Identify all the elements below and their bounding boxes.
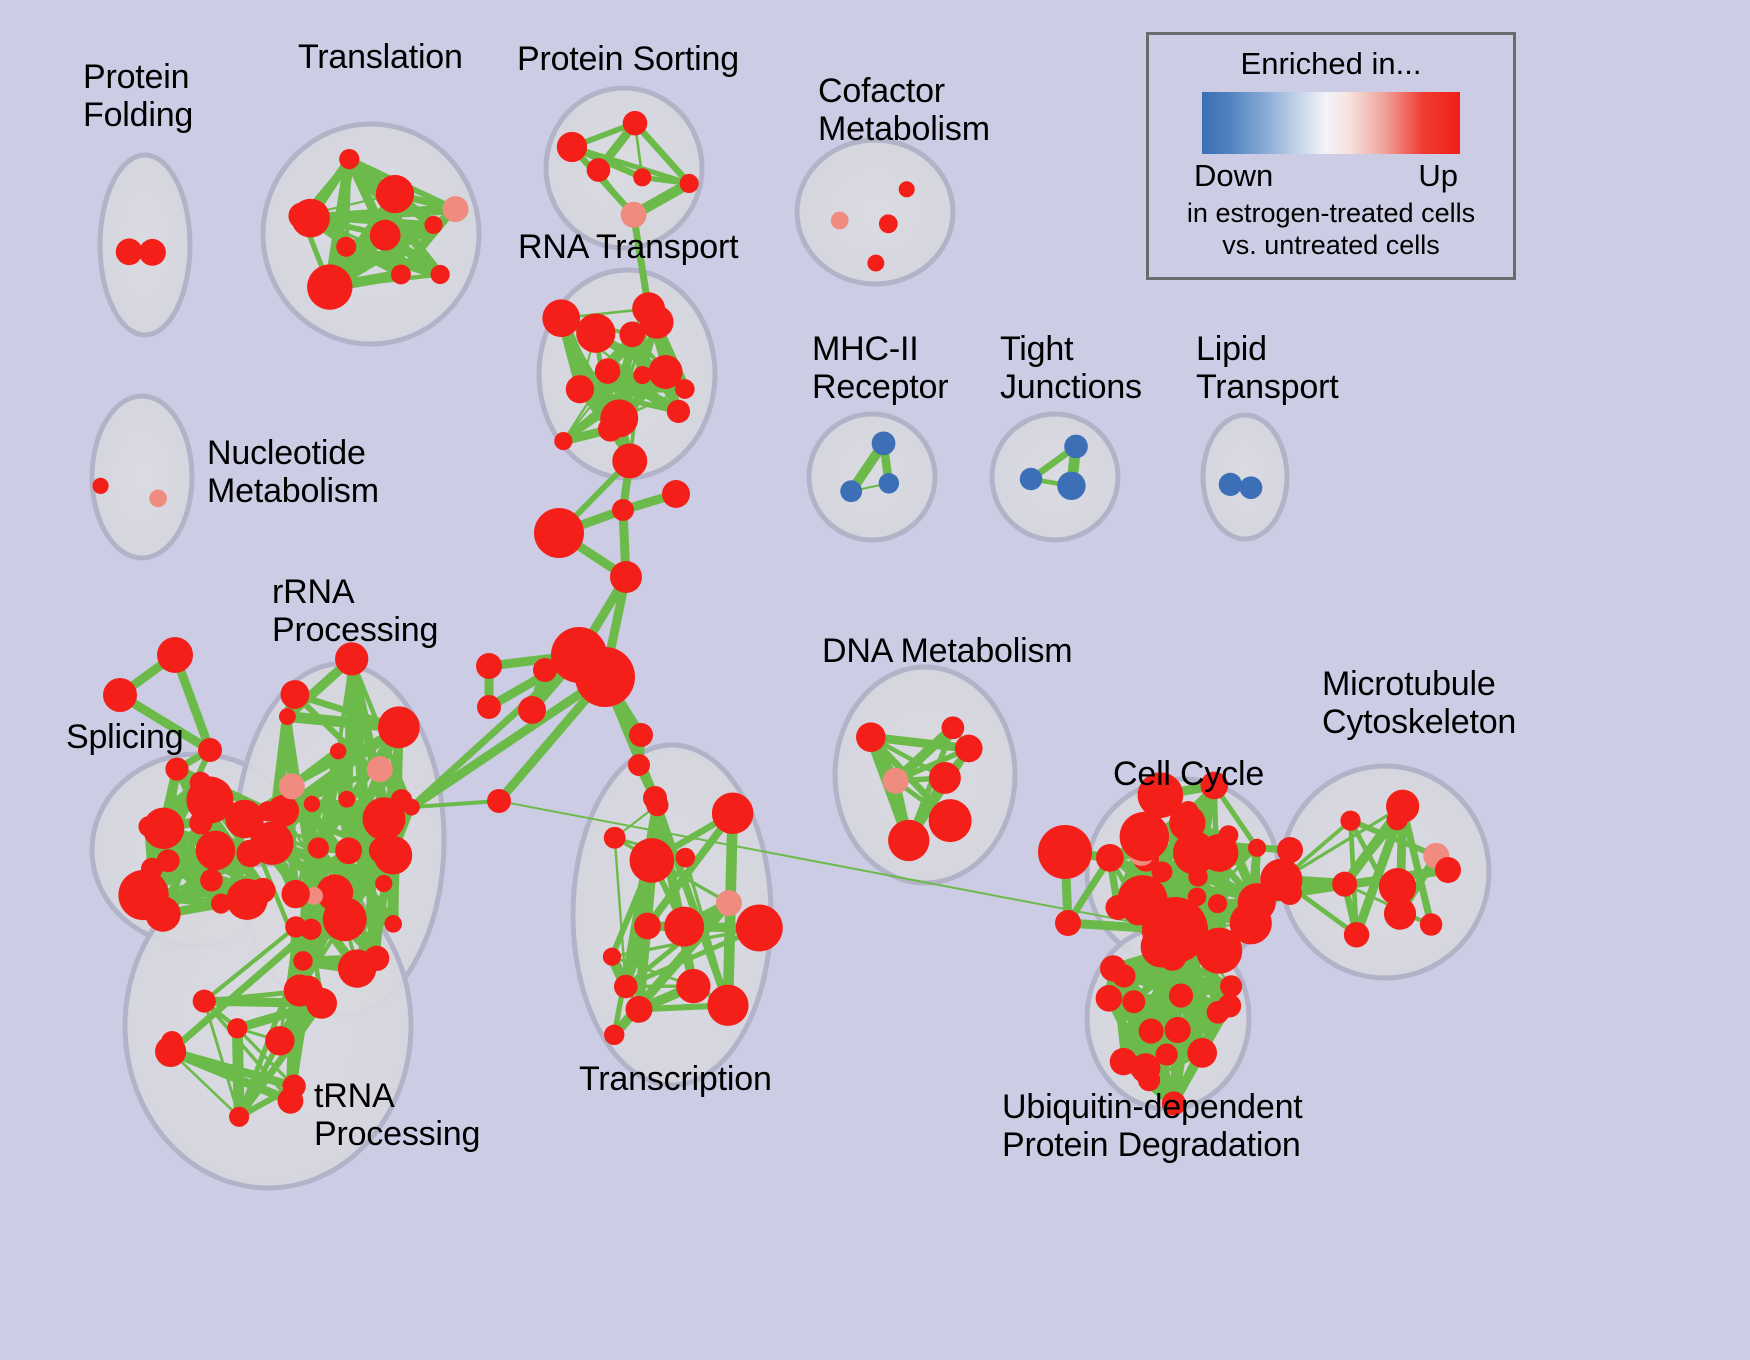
node-transcription <box>736 904 783 951</box>
node-dna-metabolism <box>955 735 983 763</box>
node-protein-folding <box>139 239 166 266</box>
node-cell-cycle <box>1208 894 1227 913</box>
node-translation <box>431 265 450 284</box>
node-transcription <box>634 913 661 940</box>
node-microtubule-cytoskeleton <box>1420 913 1442 935</box>
node-rrna-processing <box>403 799 420 816</box>
node-translation <box>288 202 315 229</box>
node-splice-out-2 <box>103 678 137 712</box>
cluster-label-cofactor-metabolism: Cofactor Metabolism <box>818 72 990 148</box>
node-rrna-processing <box>279 773 305 799</box>
node-translation <box>443 196 469 222</box>
figure-canvas: Protein FoldingTranslationProtein Sortin… <box>0 0 1750 1360</box>
node-cofactor-metabolism <box>867 255 884 272</box>
node-translation <box>336 237 356 257</box>
node-splice-out-3 <box>198 738 222 762</box>
cluster-label-rna-transport: RNA Transport <box>518 228 738 266</box>
node-tight-junctions <box>1057 472 1085 500</box>
node-dna-metabolism <box>929 762 961 794</box>
node-trna-processing <box>278 1088 304 1114</box>
node-rrna-processing <box>367 756 393 782</box>
node-transcription <box>712 792 754 834</box>
node-mhc-ii-receptor <box>840 480 862 502</box>
node-rrna-processing <box>338 791 355 808</box>
node-splicing <box>138 816 159 837</box>
node-trna-processing <box>306 988 337 1019</box>
node-rna-transport <box>612 443 647 478</box>
node-protein-sorting <box>621 202 647 228</box>
node-cell-cycle <box>1230 902 1272 944</box>
node-cell-cycle <box>1096 844 1124 872</box>
node-bridge-m <box>628 754 650 776</box>
cluster-ellipse-tight-junctions <box>992 414 1118 540</box>
node-splicing <box>190 772 212 794</box>
cluster-label-nucleotide-metabolism: Nucleotide Metabolism <box>207 434 379 510</box>
node-ubiquitin-degradation <box>1139 1019 1164 1044</box>
node-rrna-processing <box>293 951 313 971</box>
node-bridge-f <box>575 647 635 707</box>
legend-endpoints: Down Up <box>1202 158 1460 198</box>
node-dna-metabolism <box>883 768 909 794</box>
node-rrna-processing <box>384 915 402 933</box>
node-trna-processing <box>193 990 216 1013</box>
cluster-label-cell-cycle: Cell Cycle <box>1113 755 1264 793</box>
node-rna-transport <box>554 432 572 450</box>
node-trna-processing <box>227 1018 247 1038</box>
cluster-label-trna-processing: tRNA Processing <box>314 1077 480 1153</box>
node-trna-out-1 <box>161 1031 183 1053</box>
node-translation <box>370 220 401 251</box>
cluster-label-microtubule-cytoskeleton: Microtubule Cytoskeleton <box>1322 665 1516 741</box>
node-trna-processing <box>229 1107 249 1127</box>
cluster-label-dna-metabolism: DNA Metabolism <box>822 632 1072 670</box>
legend-down-label: Down <box>1194 158 1273 194</box>
node-rrna-processing <box>323 897 367 941</box>
node-rna-transport <box>598 417 623 442</box>
node-rna-transport <box>576 314 615 353</box>
legend-panel: Enriched in... Down Up in estrogen-treat… <box>1146 32 1516 280</box>
node-protein-sorting <box>680 174 699 193</box>
node-rrna-processing <box>308 837 329 858</box>
node-rrna-processing <box>338 949 376 987</box>
node-lipid-transport <box>1219 473 1242 496</box>
node-translation <box>424 216 442 234</box>
node-hub-ubq <box>1142 897 1208 963</box>
cluster-label-protein-folding: Protein Folding <box>83 58 193 134</box>
node-ubiquitin-degradation <box>1187 1038 1217 1068</box>
node-transcription <box>664 907 704 947</box>
node-bridge-d <box>610 561 642 593</box>
node-bridge-g <box>533 658 557 682</box>
node-rna-transport <box>595 358 621 384</box>
node-bridge-i <box>476 653 502 679</box>
node-transcription <box>630 838 675 883</box>
node-cell-cycle <box>1120 812 1169 861</box>
node-trna-processing <box>300 919 321 940</box>
node-ubiquitin-degradation <box>1220 975 1242 997</box>
node-transcription <box>614 975 638 999</box>
node-rna-transport <box>640 305 673 338</box>
node-rrna-processing <box>375 875 392 892</box>
node-rrna-processing <box>304 796 320 812</box>
legend-up-label: Up <box>1418 158 1458 194</box>
node-rrna-processing <box>279 708 296 725</box>
cluster-ellipse-mhc-ii-receptor <box>809 414 935 540</box>
node-nucleotide-metabolism <box>92 478 108 494</box>
node-transcription <box>626 996 653 1023</box>
node-protein-sorting <box>623 111 648 136</box>
legend-title: Enriched in... <box>1149 46 1513 82</box>
cluster-label-translation: Translation <box>298 38 463 76</box>
node-ubiquitin-degradation <box>1100 955 1126 981</box>
node-rna-transport <box>633 366 651 384</box>
node-ubiquitin-degradation <box>1165 1017 1191 1043</box>
node-cofactor-metabolism <box>831 212 849 230</box>
node-bridge-n <box>643 786 667 810</box>
node-splicing <box>165 757 188 780</box>
node-protein-folding <box>116 238 143 265</box>
node-mt-out-1 <box>1277 837 1303 863</box>
node-cell-cycle <box>1219 825 1239 845</box>
node-rna-transport <box>542 299 580 337</box>
node-bridge-j <box>477 695 501 719</box>
node-dna-metabolism <box>929 799 972 842</box>
node-translation <box>307 264 352 309</box>
node-microtubule-cytoskeleton <box>1344 922 1369 947</box>
node-lipid-transport <box>1240 476 1263 499</box>
node-rrna-processing <box>335 837 362 864</box>
node-transcription <box>716 890 742 916</box>
node-rrna-processing <box>281 880 309 908</box>
node-splicing <box>196 831 236 871</box>
node-nucleotide-metabolism <box>149 490 167 508</box>
node-ubiquitin-degradation <box>1110 1048 1137 1075</box>
cluster-ellipse-nucleotide-metabolism <box>92 396 192 558</box>
cluster-label-mhc-ii-receptor: MHC-II Receptor <box>812 330 948 406</box>
node-mt-out-3 <box>1435 857 1461 883</box>
cluster-label-protein-sorting: Protein Sorting <box>517 40 739 78</box>
node-bridge-b <box>612 499 634 521</box>
node-protein-sorting <box>557 132 587 162</box>
node-translation <box>339 149 359 169</box>
node-rrna-processing <box>378 706 420 748</box>
node-bridge-l <box>629 723 653 747</box>
node-ubiquitin-degradation <box>1122 990 1145 1013</box>
node-transcription <box>603 948 621 966</box>
node-cc-out-2 <box>1055 910 1081 936</box>
node-splicing <box>226 879 267 920</box>
node-rna-transport <box>675 379 695 399</box>
node-bridge-c <box>662 480 690 508</box>
legend-subtitle-line1: in estrogen-treated cells <box>1149 198 1513 230</box>
cluster-ellipse-lipid-transport <box>1203 415 1287 539</box>
node-microtubule-cytoskeleton <box>1384 898 1416 930</box>
node-tight-junctions <box>1020 468 1043 491</box>
node-cofactor-metabolism <box>899 181 915 197</box>
node-rrna-processing <box>330 743 346 759</box>
node-translation <box>391 264 411 284</box>
cluster-label-splicing: Splicing <box>66 718 183 756</box>
node-protein-sorting <box>587 158 611 182</box>
node-splice-out-1 <box>157 637 193 673</box>
node-ubiquitin-degradation <box>1096 985 1123 1012</box>
node-bridge-a <box>534 508 584 558</box>
node-protein-sorting <box>633 168 651 186</box>
node-cofactor-metabolism <box>879 214 898 233</box>
node-ubiquitin-degradation <box>1169 983 1193 1007</box>
node-rrna-processing <box>225 800 264 839</box>
node-cell-cycle <box>1105 895 1130 920</box>
cluster-label-lipid-transport: Lipid Transport <box>1196 330 1338 406</box>
node-mt-out-2 <box>1278 881 1302 905</box>
node-transcription <box>676 969 710 1003</box>
node-microtubule-cytoskeleton <box>1332 872 1357 897</box>
node-trna-processing <box>265 1026 294 1055</box>
node-rrna-processing <box>374 836 413 875</box>
cluster-label-ubiquitin-degradation: Ubiquitin-dependent Protein Degradation <box>1002 1088 1303 1164</box>
legend-color-gradient <box>1202 92 1460 154</box>
node-dna-metabolism <box>888 820 929 861</box>
cluster-label-transcription: Transcription <box>579 1060 772 1098</box>
node-translation <box>376 175 414 213</box>
cluster-label-rrna-processing: rRNA Processing <box>272 573 438 649</box>
node-microtubule-cytoskeleton <box>1386 790 1419 823</box>
node-transcription <box>707 985 748 1026</box>
node-ubiquitin-degradation <box>1218 994 1242 1018</box>
node-transcription <box>675 848 695 868</box>
node-cc-out-1 <box>1038 825 1092 879</box>
node-rna-transport <box>667 400 690 423</box>
node-mhc-ii-receptor <box>879 473 899 493</box>
node-bridge-h <box>518 696 546 724</box>
node-bridge-k <box>487 789 511 813</box>
node-rna-transport <box>566 375 594 403</box>
node-tight-junctions <box>1064 435 1088 459</box>
node-rrna-processing <box>281 680 310 709</box>
cluster-label-tight-junctions: Tight Junctions <box>1000 330 1142 406</box>
node-microtubule-cytoskeleton <box>1340 811 1360 831</box>
legend-subtitle-line2: vs. untreated cells <box>1149 230 1513 262</box>
node-cell-cycle <box>1248 839 1266 857</box>
node-dna-metabolism <box>941 716 964 739</box>
node-mhc-ii-receptor <box>872 431 896 455</box>
node-transcription <box>604 827 626 849</box>
node-transcription <box>604 1025 624 1045</box>
node-dna-metabolism <box>856 722 886 752</box>
node-splicing <box>118 870 168 920</box>
node-splicing <box>200 869 223 892</box>
